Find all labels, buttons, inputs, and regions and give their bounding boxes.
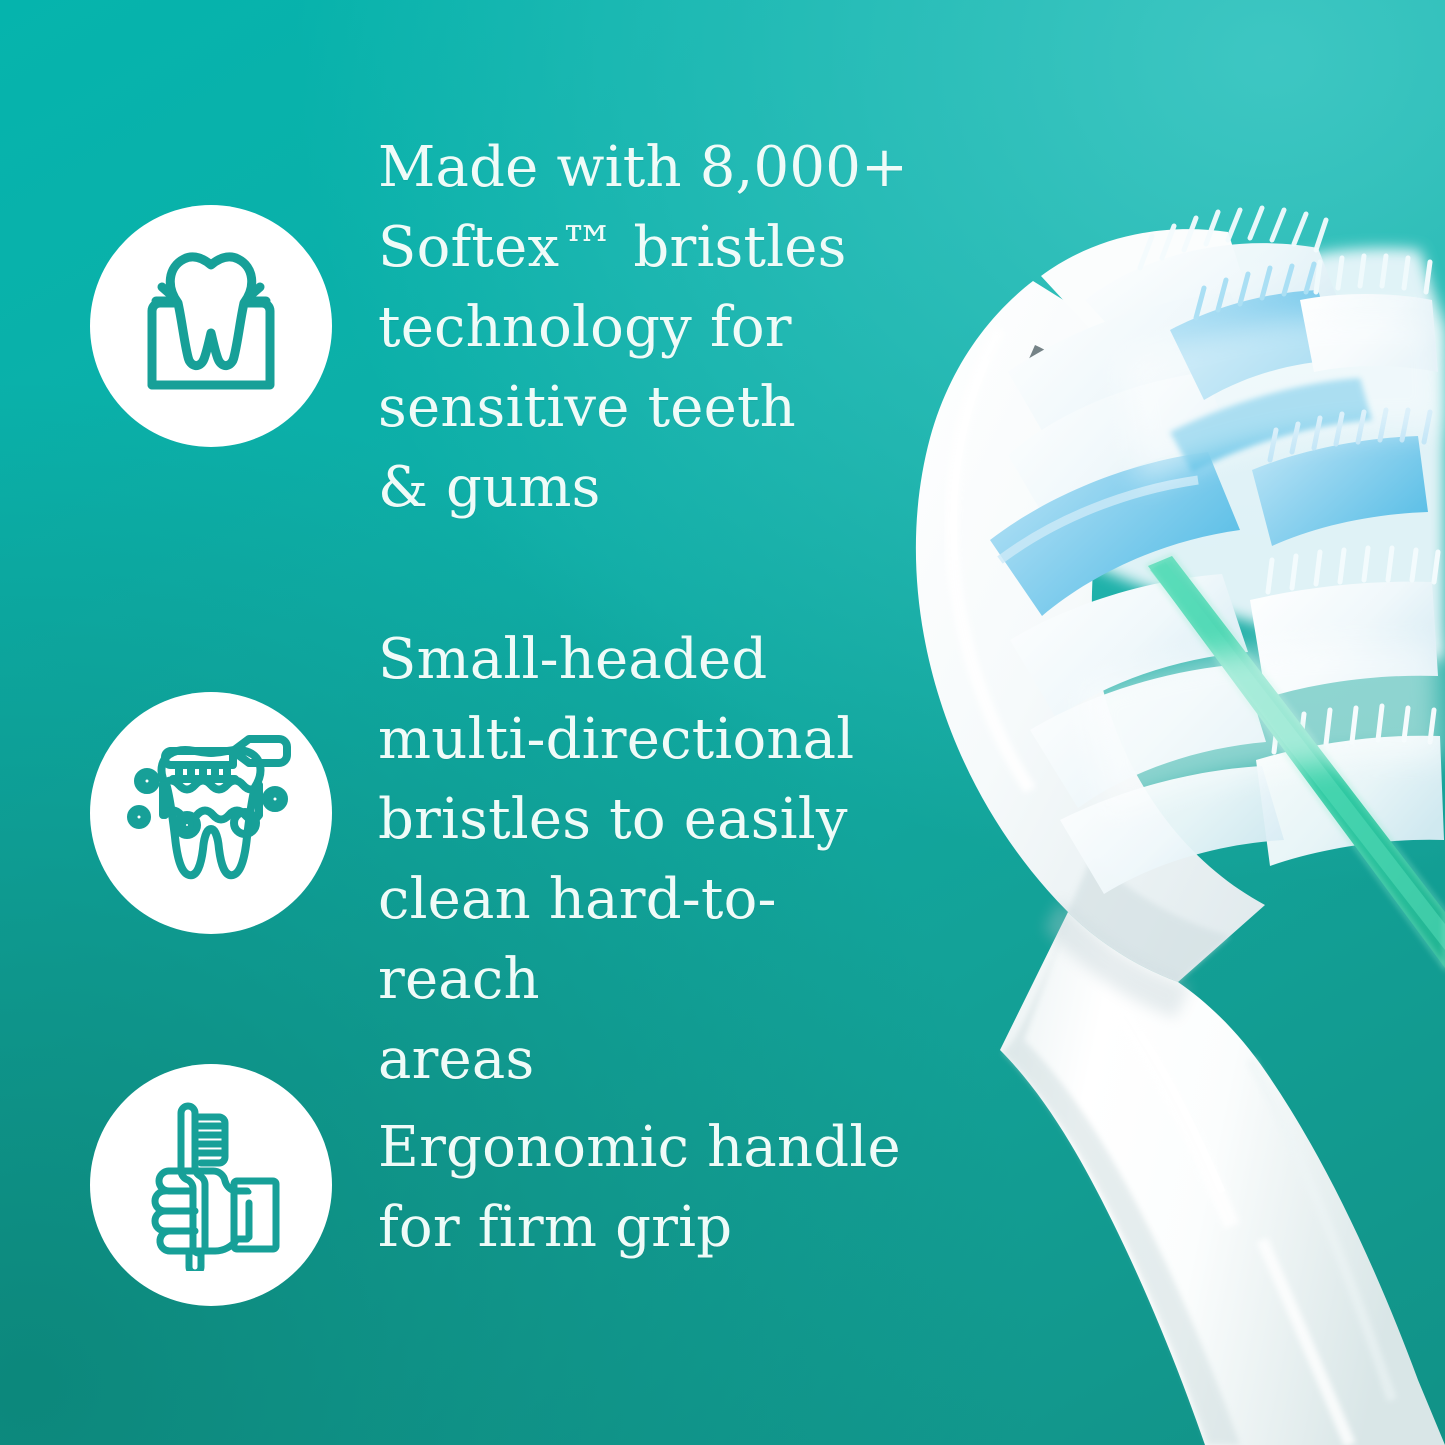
feature-text-multi-directional-bristles: Small-headed multi-directional bristles …	[378, 620, 923, 1100]
hand-gripping-toothbrush-icon	[90, 1064, 332, 1306]
feature-text-softex-bristles: Made with 8,000+ Softex™ bristles techno…	[378, 128, 923, 528]
feature-text-ergonomic-handle: Ergonomic handle for firm grip	[378, 1108, 923, 1268]
infographic-canvas: Made with 8,000+ Softex™ bristles techno…	[0, 0, 1445, 1445]
tooth-gums-sensitivity-icon	[90, 205, 332, 447]
toothbrush-cleaning-tooth-icon	[90, 692, 332, 934]
